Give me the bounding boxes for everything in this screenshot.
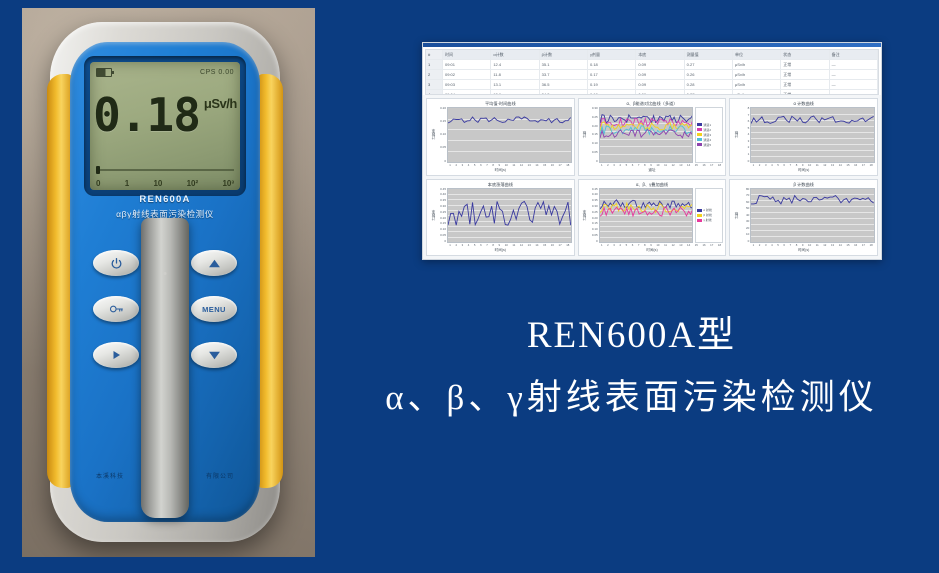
chart-series	[751, 189, 874, 243]
chart-y-tick: 2	[738, 146, 749, 149]
table-row[interactable]: 109:0112.435.10.180.090.27μSv/h正常—	[426, 60, 878, 70]
charts-grid: 平均值-时间曲线计数率0.200.150.100.050123456789101…	[423, 95, 881, 259]
table-header-row: #时间α计数β计数γ剂量本底测量值单位状态备注	[426, 50, 878, 60]
page-title: REN600A型	[330, 312, 933, 360]
chart-y-tick: 0.35	[587, 199, 598, 202]
legend-swatch	[697, 138, 702, 141]
chart-legend: 通道1通道2通道3通道4通道5	[695, 107, 723, 163]
page-subtitle: α、β、γ射线表面污染检测仪	[330, 370, 933, 426]
legend-item[interactable]: γ 射线	[697, 218, 721, 223]
chart-plot-area	[750, 107, 875, 163]
chart-y-ticks: 0.300.250.200.150.100.050	[587, 107, 599, 163]
lcd-scale-tick: 10	[153, 179, 162, 188]
legend-label: γ 射线	[703, 218, 711, 222]
software-screenshot: #时间α计数β计数γ剂量本底测量值单位状态备注 109:0112.435.10.…	[422, 42, 882, 260]
chart-plot-area	[599, 107, 694, 163]
chart-y-tick: 0.10	[587, 228, 598, 231]
lcd-bargraph-fill	[96, 166, 100, 174]
legend-label: 通道3	[703, 133, 711, 137]
legend-swatch	[697, 133, 702, 136]
table-cell: 11.8	[491, 70, 539, 79]
radiation-detector-device: CPS 0.00 0.18 μSv/h 0 1 10 10²	[50, 22, 280, 542]
table-row[interactable]: 209:0211.833.70.170.090.26μSv/h正常—	[426, 70, 878, 80]
strap-rivet	[164, 272, 167, 275]
chart-x-axis-label: 时间(s)	[732, 248, 875, 253]
chart-y-tick: 0.05	[435, 146, 446, 149]
lcd-scale-tick: 0	[96, 179, 100, 188]
chart-y-tick: 5	[738, 127, 749, 130]
chart-y-tick: 0.25	[587, 116, 598, 119]
table-header-cell: 时间	[443, 50, 491, 59]
chart-y-tick: 60	[738, 201, 749, 204]
chart-x-axis-label: 时间(s)	[732, 168, 875, 173]
chart-y-tick: 0.10	[587, 142, 598, 145]
power-button[interactable]	[93, 250, 139, 276]
table-cell: 3	[426, 80, 443, 89]
table-cell: —	[830, 60, 878, 69]
maker-right: 有限公司	[206, 471, 234, 480]
chart-y-tick: 1	[738, 153, 749, 156]
table-cell: 12.4	[491, 60, 539, 69]
chart-series	[751, 108, 874, 162]
chart-y-tick: 0.15	[435, 120, 446, 123]
table-header-cell: β计数	[540, 50, 588, 59]
play-button[interactable]	[93, 342, 139, 368]
data-table: #时间α计数β计数γ剂量本底测量值单位状态备注 109:0112.435.10.…	[425, 49, 879, 95]
chart-series	[448, 189, 571, 243]
battery-icon	[96, 68, 112, 77]
keypad-right-column: MENU	[182, 250, 246, 388]
poster-titles: REN600A型 α、β、γ射线表面污染检测仪	[330, 312, 933, 426]
table-cell: 09:03	[443, 80, 491, 89]
table-cell: 36.5	[540, 80, 588, 89]
chart-y-ticks: 876543210	[738, 107, 750, 163]
chart-y-tick: 0.10	[435, 133, 446, 136]
chart-y-tick: 8	[738, 107, 749, 110]
chart-card[interactable]: 平均值-时间曲线计数率0.200.150.100.050123456789101…	[426, 98, 575, 176]
table-header-cell: α计数	[491, 50, 539, 59]
table-header-cell: 备注	[830, 50, 878, 59]
chart-y-ticks: 0.450.400.350.300.250.200.150.100.050	[435, 188, 447, 244]
chart-y-tick: 0.05	[435, 234, 446, 237]
chart-y-tick: 6	[738, 120, 749, 123]
up-arrow-button[interactable]	[191, 250, 237, 276]
table-header-cell: 本底	[636, 50, 684, 59]
grip-right	[257, 74, 283, 488]
lcd-bezel: CPS 0.00 0.18 μSv/h 0 1 10 10²	[84, 56, 246, 196]
table-cell: —	[830, 80, 878, 89]
table-header-cell: γ剂量	[588, 50, 636, 59]
chart-y-tick: 0.30	[587, 205, 598, 208]
lcd-bargraph-track	[96, 169, 234, 171]
chart-y-tick: 0.15	[435, 222, 446, 225]
chart-y-tick: 0.30	[587, 107, 598, 110]
chart-y-tick: 0.20	[435, 217, 446, 220]
chart-body: 计数0.300.250.200.150.100.050通道1通道2通道3通道4通…	[581, 107, 724, 163]
chart-body: 计数876543210	[732, 107, 875, 163]
menu-button-label: MENU	[202, 305, 226, 314]
chart-y-tick: 0.25	[435, 211, 446, 214]
legend-label: 通道5	[703, 143, 711, 147]
chart-plot-area	[447, 188, 572, 244]
chart-body: 计数率0.200.150.100.050	[429, 107, 572, 163]
legend-label: α 射线	[703, 208, 712, 212]
table-cell: 0.18	[588, 60, 636, 69]
table-cell: 1	[426, 60, 443, 69]
chart-y-tick: 10	[738, 233, 749, 236]
table-header-cell: 测量值	[685, 50, 733, 59]
chart-plot-area	[750, 188, 875, 244]
lcd-unit: μSv/h	[204, 96, 237, 111]
table-header-cell: 单位	[733, 50, 781, 59]
chart-series	[600, 108, 693, 162]
lcd-bargraph	[96, 166, 234, 174]
legend-swatch	[697, 123, 702, 126]
chart-y-ticks: 0.450.400.350.300.250.200.150.100.050	[587, 188, 599, 244]
table-cell: 0.09	[636, 80, 684, 89]
software-titlebar	[423, 43, 881, 47]
chart-y-tick: 0.25	[587, 211, 598, 214]
chart-card[interactable]: 本底涨落曲线计数率0.450.400.350.300.250.200.150.1…	[426, 179, 575, 257]
device-photo: CPS 0.00 0.18 μSv/h 0 1 10 10²	[22, 8, 315, 557]
chart-card[interactable]: α、β能谱对比曲线（多道）计数0.300.250.200.150.100.050…	[578, 98, 727, 176]
table-cell: 13.1	[491, 80, 539, 89]
table-cell: 33.7	[540, 70, 588, 79]
legend-swatch	[697, 209, 702, 212]
chart-y-tick: 0.45	[435, 188, 446, 191]
maker-left: 本溪科技	[96, 471, 124, 480]
chart-y-tick: 0.40	[587, 193, 598, 196]
table-body: 109:0112.435.10.180.090.27μSv/h正常—209:02…	[426, 60, 878, 95]
table-row[interactable]: 309:0313.136.50.190.090.28μSv/h正常—	[426, 80, 878, 90]
legend-swatch	[697, 128, 702, 131]
chart-y-tick: 4	[738, 133, 749, 136]
table-cell: 09:01	[443, 60, 491, 69]
table-header-cell: #	[426, 50, 443, 59]
chart-card[interactable]: α、β、γ叠加曲线计数率0.450.400.350.300.250.200.15…	[578, 179, 727, 257]
chart-y-tick: 0.20	[435, 107, 446, 110]
chart-y-tick: 0.30	[435, 205, 446, 208]
table-cell: μSv/h	[733, 70, 781, 79]
chart-y-tick: 0.20	[587, 125, 598, 128]
chart-y-tick: 0.15	[587, 133, 598, 136]
table-cell: 0.09	[636, 70, 684, 79]
hand-strap	[141, 218, 189, 518]
chart-legend: α 射线β 射线γ 射线	[695, 188, 723, 244]
lcd-reading: 0.18 μSv/h	[90, 84, 240, 146]
chart-y-tick: 7	[738, 114, 749, 117]
chart-y-tick: 20	[738, 227, 749, 230]
chart-y-tick: 40	[738, 214, 749, 217]
chart-y-tick: 0.15	[587, 222, 598, 225]
chart-plot-area	[447, 107, 572, 163]
chart-plot-area	[599, 188, 694, 244]
chart-y-tick: 0.20	[587, 217, 598, 220]
table-cell: 0.26	[685, 70, 733, 79]
down-arrow-button[interactable]	[191, 342, 237, 368]
table-cell: 0.17	[588, 70, 636, 79]
chart-y-tick: 0.05	[587, 234, 598, 237]
legend-swatch	[697, 219, 702, 222]
chart-body: 计数率0.450.400.350.300.250.200.150.100.050…	[581, 188, 724, 244]
lcd-screen: CPS 0.00 0.18 μSv/h 0 1 10 10²	[90, 62, 240, 190]
table-cell: 正常	[781, 80, 829, 89]
lcd-scale-tick: 10²	[187, 179, 199, 188]
chart-y-tick: 0.45	[587, 188, 598, 191]
menu-button[interactable]: MENU	[191, 296, 237, 322]
chart-x-axis-label: 时间(s)	[581, 248, 724, 253]
chart-card[interactable]: β 计数曲线计数80706050403020100123456789101112…	[729, 179, 878, 257]
legend-label: 通道4	[703, 138, 711, 142]
chart-y-tick: 50	[738, 207, 749, 210]
chart-series	[448, 108, 571, 162]
table-cell: 35.1	[540, 60, 588, 69]
table-cell: 正常	[781, 70, 829, 79]
lcd-scale-tick: 10³	[222, 179, 234, 188]
chart-y-tick: 0.10	[435, 228, 446, 231]
chart-x-axis-label: 道址	[581, 168, 724, 173]
table-cell: 0.09	[636, 60, 684, 69]
table-cell: 0.27	[685, 60, 733, 69]
chart-y-tick: 70	[738, 194, 749, 197]
chart-y-tick: 0.40	[435, 193, 446, 196]
legend-label: β 射线	[703, 213, 712, 217]
device-model-name: REN600A	[70, 194, 260, 205]
search-key-button[interactable]	[93, 296, 139, 322]
chart-x-axis-label: 时间(s)	[429, 248, 572, 253]
table-cell: μSv/h	[733, 80, 781, 89]
lcd-value: 0.18	[93, 92, 200, 138]
table-cell: 2	[426, 70, 443, 79]
legend-swatch	[697, 214, 702, 217]
lcd-scale: 0 1 10 10² 10³	[96, 177, 234, 189]
chart-y-tick: 80	[738, 188, 749, 191]
table-header-cell: 状态	[781, 50, 829, 59]
chart-y-tick: 0.05	[587, 151, 598, 154]
chart-card[interactable]: α 计数曲线计数87654321012345678910111213141516…	[729, 98, 878, 176]
chart-body: 计数率0.450.400.350.300.250.200.150.100.050	[429, 188, 572, 244]
chart-y-tick: 0.35	[435, 199, 446, 202]
chart-y-tick: 30	[738, 220, 749, 223]
keypad-left-column	[84, 250, 148, 388]
table-cell: 0.19	[588, 80, 636, 89]
chart-y-ticks: 0.200.150.100.050	[435, 107, 447, 163]
chart-y-tick: 3	[738, 140, 749, 143]
legend-item[interactable]: 通道5	[697, 142, 721, 147]
lcd-status-bar: CPS 0.00	[96, 66, 234, 78]
device-model-block: REN600A αβγ射线表面污染检测仪	[70, 194, 260, 220]
table-cell: 正常	[781, 60, 829, 69]
lcd-status-right: CPS 0.00	[200, 69, 234, 76]
chart-y-ticks: 80706050403020100	[738, 188, 750, 244]
table-cell: 0.28	[685, 80, 733, 89]
table-cell: 09:02	[443, 70, 491, 79]
table-cell: μSv/h	[733, 60, 781, 69]
legend-label: 通道1	[703, 123, 711, 127]
legend-label: 通道2	[703, 128, 711, 132]
chart-body: 计数80706050403020100	[732, 188, 875, 244]
lcd-scale-tick: 1	[125, 179, 129, 188]
legend-swatch	[697, 143, 702, 146]
table-cell: —	[830, 70, 878, 79]
chart-x-axis-label: 时间(s)	[429, 168, 572, 173]
chart-series	[600, 189, 693, 243]
